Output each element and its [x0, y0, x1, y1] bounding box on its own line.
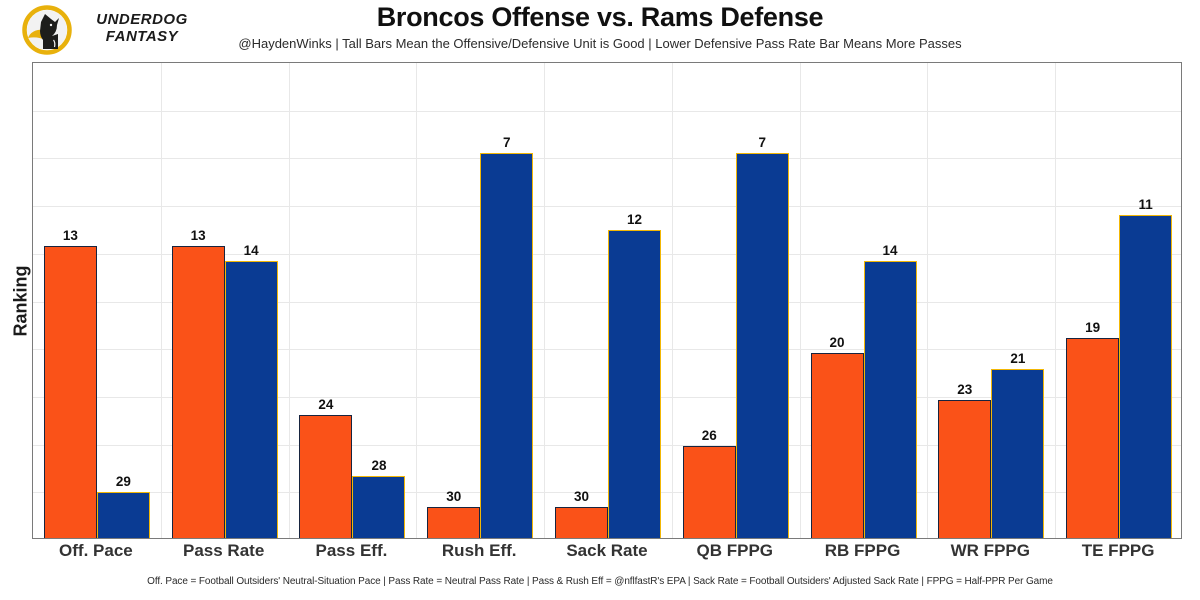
bar-value-label: 14 — [244, 243, 259, 258]
bar-value-label: 11 — [1138, 197, 1152, 212]
chart-subtitle: @HaydenWinks | Tall Bars Mean the Offens… — [0, 36, 1200, 51]
bar-value-label: 28 — [371, 458, 386, 473]
x-axis-tick-pass-rate: Pass Rate — [160, 541, 288, 561]
bar-value-label: 7 — [759, 135, 767, 150]
bar-offense[interactable] — [172, 246, 225, 538]
bar-value-label: 12 — [627, 212, 642, 227]
bar-offense[interactable] — [555, 507, 608, 538]
bar-value-label: 30 — [446, 489, 461, 504]
x-axis-tick-rush-eff: Rush Eff. — [415, 541, 543, 561]
bar-defense[interactable] — [736, 153, 789, 538]
bar-value-label: 26 — [702, 428, 717, 443]
bar-offense[interactable] — [938, 400, 991, 538]
bar-value-label: 19 — [1085, 320, 1100, 335]
chart-title: Broncos Offense vs. Rams Defense — [0, 2, 1200, 33]
x-axis-tick-rb-fppg: RB FPPG — [799, 541, 927, 561]
bar-defense[interactable] — [225, 261, 278, 538]
bar-value-label: 13 — [63, 228, 78, 243]
x-axis-tick-labels: Off. PacePass RatePass Eff.Rush Eff.Sack… — [32, 541, 1182, 569]
bar-value-label: 13 — [191, 228, 206, 243]
bar-defense[interactable] — [864, 261, 917, 538]
bar-defense[interactable] — [352, 476, 405, 538]
bar-defense[interactable] — [480, 153, 533, 538]
bar-value-label: 30 — [574, 489, 589, 504]
bar-offense[interactable] — [1066, 338, 1119, 538]
bar-defense[interactable] — [1119, 215, 1172, 538]
bar-offense[interactable] — [811, 353, 864, 538]
chart-footnote: Off. Pace = Football Outsiders' Neutral-… — [0, 576, 1200, 587]
chart-page: UNDERDOG FANTASY Broncos Offense vs. Ram… — [0, 0, 1200, 600]
bar-value-label: 29 — [116, 474, 131, 489]
bars-layer: 1329131424283073012267201423211911 — [33, 63, 1181, 538]
bar-offense[interactable] — [44, 246, 97, 538]
bar-value-label: 24 — [318, 397, 333, 412]
x-axis-tick-te-fppg: TE FPPG — [1054, 541, 1182, 561]
x-axis-tick-wr-fppg: WR FPPG — [926, 541, 1054, 561]
bar-defense[interactable] — [991, 369, 1044, 538]
bar-offense[interactable] — [299, 415, 352, 538]
bar-value-label: 21 — [1010, 351, 1025, 366]
bar-value-label: 14 — [883, 243, 898, 258]
bar-value-label: 20 — [830, 335, 845, 350]
plot-area: 1329131424283073012267201423211911 Ranki… — [32, 62, 1182, 539]
x-axis-tick-off-pace: Off. Pace — [32, 541, 160, 561]
y-axis-label: Ranking — [11, 265, 32, 336]
bar-offense[interactable] — [683, 446, 736, 538]
bar-offense[interactable] — [427, 507, 480, 538]
x-axis-tick-pass-eff: Pass Eff. — [288, 541, 416, 561]
x-axis-tick-sack-rate: Sack Rate — [543, 541, 671, 561]
bar-defense[interactable] — [97, 492, 150, 538]
x-axis-tick-qb-fppg: QB FPPG — [671, 541, 799, 561]
bar-value-label: 23 — [957, 382, 972, 397]
bar-value-label: 7 — [503, 135, 511, 150]
bar-defense[interactable] — [608, 230, 661, 538]
chart-header: UNDERDOG FANTASY Broncos Offense vs. Ram… — [0, 0, 1200, 58]
